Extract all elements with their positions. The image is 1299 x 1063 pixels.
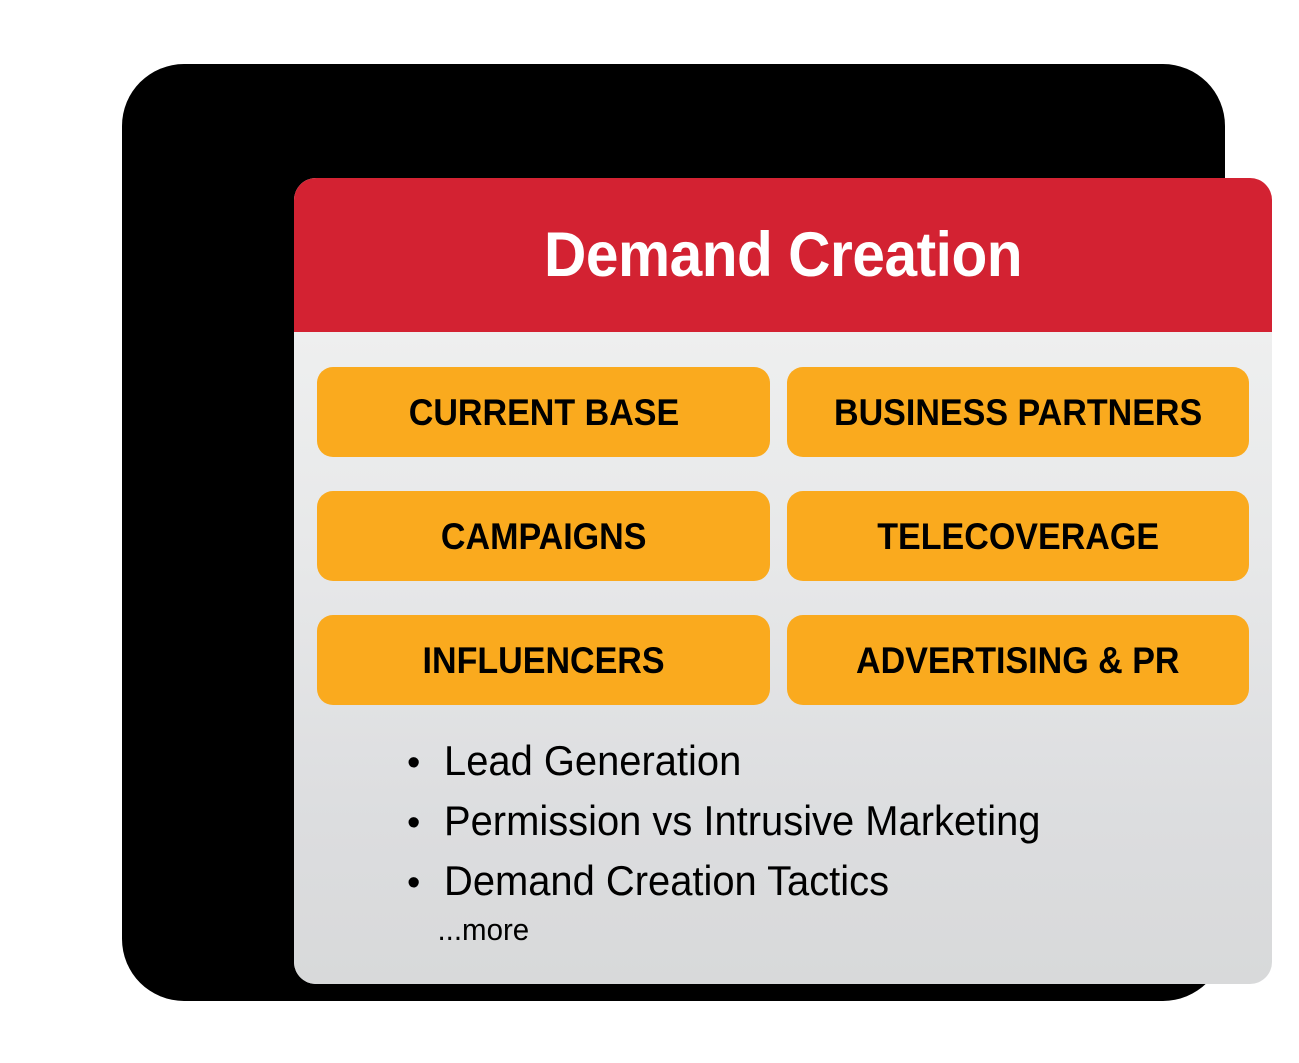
card-outer-frame: Demand Creation CURRENT BASE BUSINESS PA…	[122, 64, 1225, 1001]
button-label: CURRENT BASE	[408, 394, 678, 431]
button-label: INFLUENCERS	[422, 642, 664, 679]
button-label: BUSINESS PARTNERS	[834, 394, 1202, 431]
tactic-button-grid: CURRENT BASE BUSINESS PARTNERS CAMPAIGNS…	[314, 367, 1252, 705]
list-item-label: Demand Creation Tactics	[444, 854, 889, 908]
topic-bullet-list: • Lead Generation • Permission vs Intrus…	[314, 705, 1252, 907]
button-advertising-and-pr[interactable]: ADVERTISING & PR	[787, 615, 1249, 705]
bullet-icon: •	[407, 804, 444, 842]
button-label: CAMPAIGNS	[441, 518, 647, 555]
list-item-label: Permission vs Intrusive Marketing	[444, 794, 1040, 848]
list-item: • Lead Generation	[314, 734, 1252, 788]
list-item-label: Lead Generation	[444, 734, 741, 788]
more-label: ...more	[314, 911, 1205, 948]
list-item: • Permission vs Intrusive Marketing	[314, 794, 1252, 848]
page-title: Demand Creation	[544, 224, 1022, 287]
bullet-icon: •	[407, 744, 444, 782]
button-current-base[interactable]: CURRENT BASE	[317, 367, 770, 457]
button-influencers[interactable]: INFLUENCERS	[317, 615, 770, 705]
button-campaigns[interactable]: CAMPAIGNS	[317, 491, 770, 581]
card-header: Demand Creation	[294, 178, 1272, 332]
demand-creation-card: Demand Creation CURRENT BASE BUSINESS PA…	[294, 178, 1272, 984]
button-label: TELECOVERAGE	[877, 518, 1159, 555]
card-body: CURRENT BASE BUSINESS PARTNERS CAMPAIGNS…	[294, 332, 1272, 984]
button-label: ADVERTISING & PR	[856, 642, 1179, 679]
bullet-icon: •	[407, 864, 444, 902]
button-telecoverage[interactable]: TELECOVERAGE	[787, 491, 1249, 581]
button-business-partners[interactable]: BUSINESS PARTNERS	[787, 367, 1249, 457]
list-item: • Demand Creation Tactics	[314, 854, 1252, 908]
